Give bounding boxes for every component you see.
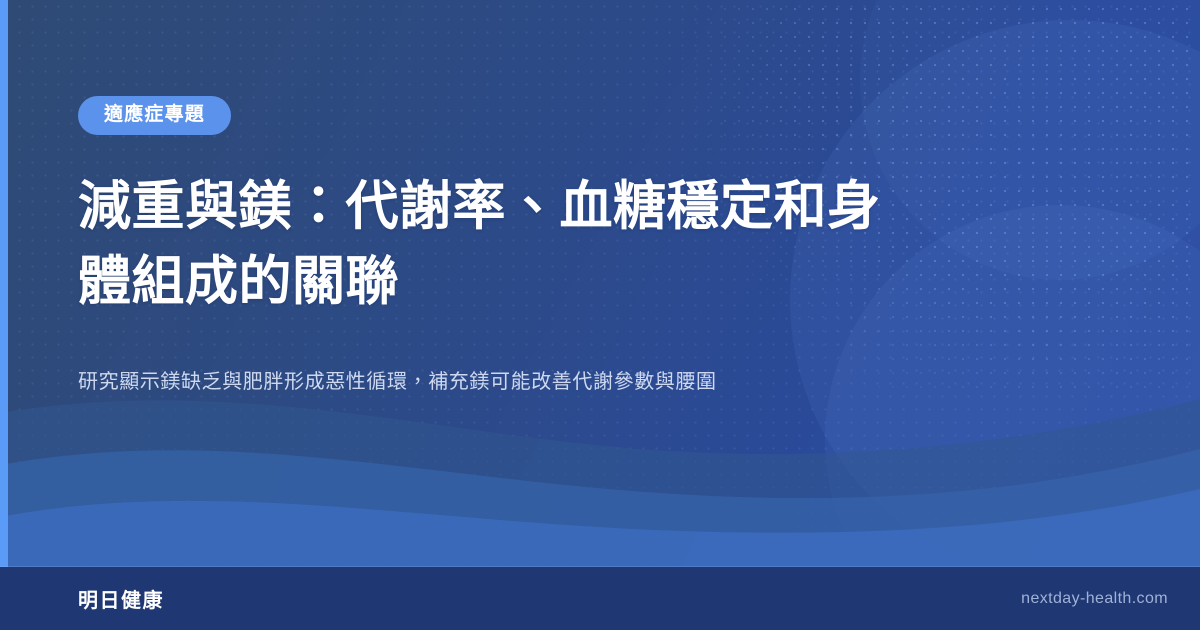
footer-bar: 明日健康 nextday-health.com <box>0 567 1200 630</box>
og-card: 適應症專題 減重與鎂：代謝率、血糖穩定和身體組成的關聯 研究顯示鎂缺乏與肥胖形成… <box>0 0 1200 630</box>
category-badge[interactable]: 適應症專題 <box>78 96 231 135</box>
left-accent-bar <box>0 0 8 567</box>
page-title: 減重與鎂：代謝率、血糖穩定和身體組成的關聯 <box>78 169 908 320</box>
brand-name: 明日健康 <box>78 584 164 613</box>
hero-content: 適應症專題 減重與鎂：代謝率、血糖穩定和身體組成的關聯 研究顯示鎂缺乏與肥胖形成… <box>78 96 958 398</box>
site-url[interactable]: nextday-health.com <box>1021 590 1168 608</box>
page-subtitle: 研究顯示鎂缺乏與肥胖形成惡性循環，補充鎂可能改善代謝參數與腰圍 <box>78 366 938 398</box>
